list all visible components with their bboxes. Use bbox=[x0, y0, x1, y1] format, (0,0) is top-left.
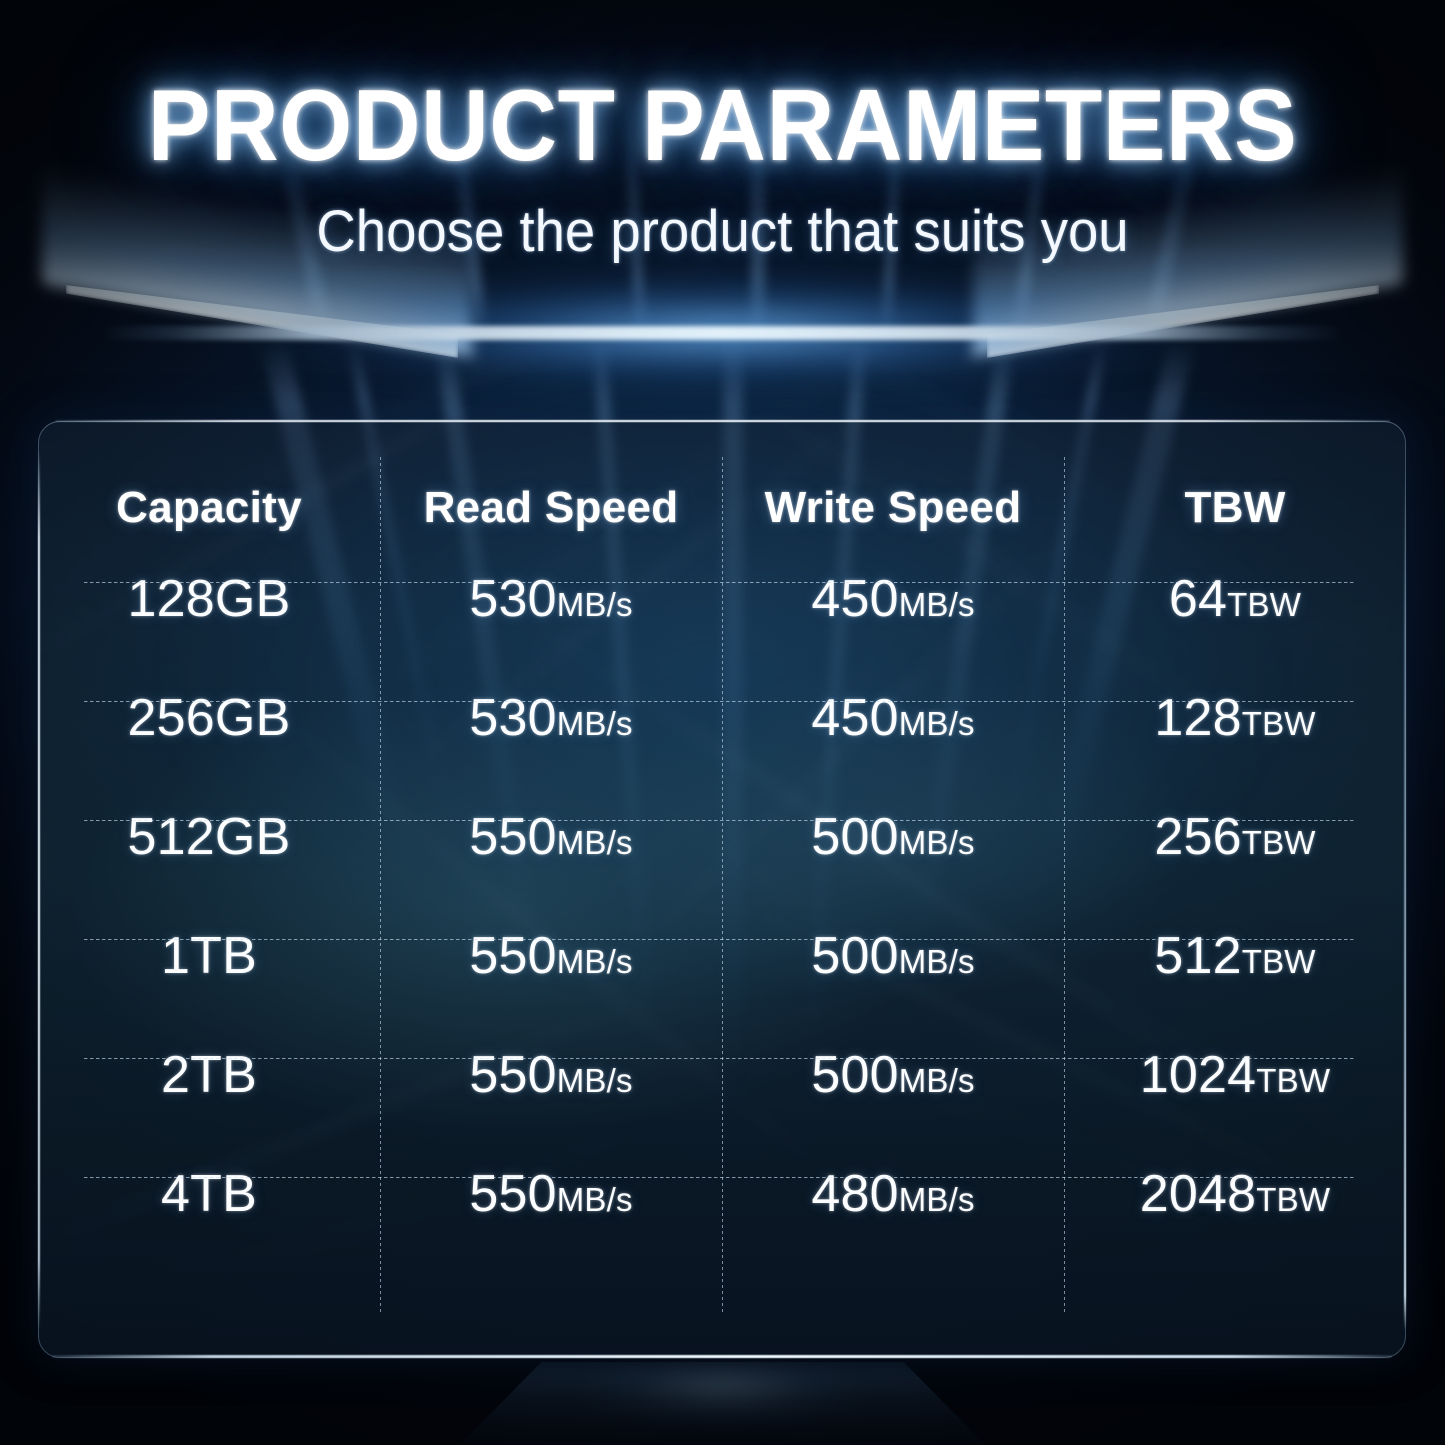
table-cell-tbw: 128TBW bbox=[1064, 658, 1406, 777]
cell-number: 500 bbox=[811, 926, 898, 986]
column-divider bbox=[380, 457, 381, 1315]
cell-number: 450 bbox=[811, 569, 898, 629]
cell-unit: GB bbox=[215, 688, 291, 748]
table-cell-capacity: 4TB bbox=[38, 1134, 380, 1253]
row-divider bbox=[84, 701, 1354, 702]
table-cell-write_speed: 500MB/s bbox=[722, 777, 1064, 896]
cell-unit: MB/s bbox=[899, 1181, 975, 1219]
cell-value: 1TB bbox=[161, 926, 257, 986]
cell-unit: TBW bbox=[1242, 943, 1316, 981]
cell-value: 450MB/s bbox=[811, 688, 974, 748]
table-cell-read_speed: 550MB/s bbox=[380, 896, 722, 1015]
table-cell-write_speed: 450MB/s bbox=[722, 658, 1064, 777]
header-block: PRODUCT PARAMETERS Choose the product th… bbox=[0, 76, 1445, 261]
cell-unit: TB bbox=[190, 926, 257, 986]
table-cell-read_speed: 550MB/s bbox=[380, 777, 722, 896]
cell-unit: MB/s bbox=[899, 943, 975, 981]
column-divider bbox=[722, 457, 723, 1315]
cell-value: 550MB/s bbox=[469, 807, 632, 867]
row-divider bbox=[84, 1058, 1354, 1059]
row-divider bbox=[84, 582, 1354, 583]
cell-number: 530 bbox=[469, 688, 556, 748]
cell-unit: MB/s bbox=[557, 1062, 633, 1100]
table-cell-tbw: 64TBW bbox=[1064, 539, 1406, 658]
cell-unit: MB/s bbox=[557, 943, 633, 981]
cell-value: 450MB/s bbox=[811, 569, 974, 629]
table-cell-tbw: 1024TBW bbox=[1064, 1015, 1406, 1134]
page-title: PRODUCT PARAMETERS bbox=[51, 76, 1395, 177]
cell-value: 530MB/s bbox=[469, 688, 632, 748]
cell-number: 256 bbox=[1154, 807, 1241, 867]
cell-value: 256TBW bbox=[1154, 807, 1315, 867]
column-header-tbw: TBW bbox=[1064, 421, 1406, 539]
cell-unit: TB bbox=[190, 1045, 257, 1105]
cell-value: 500MB/s bbox=[811, 1045, 974, 1105]
cell-number: 1 bbox=[161, 926, 190, 986]
cell-value: 64TBW bbox=[1169, 569, 1301, 629]
table-cell-capacity: 1TB bbox=[38, 896, 380, 1015]
row-divider bbox=[84, 939, 1354, 940]
cell-number: 530 bbox=[469, 569, 556, 629]
cell-unit: GB bbox=[215, 807, 291, 867]
cell-unit: TBW bbox=[1242, 824, 1316, 862]
cell-number: 480 bbox=[811, 1164, 898, 1224]
cell-value: 2048TBW bbox=[1140, 1164, 1330, 1224]
cell-value: 2TB bbox=[161, 1045, 257, 1105]
column-header-label: TBW bbox=[1184, 483, 1285, 533]
table-cell-capacity: 128GB bbox=[38, 539, 380, 658]
cell-unit: MB/s bbox=[557, 586, 633, 624]
table-cell-write_speed: 500MB/s bbox=[722, 896, 1064, 1015]
table-cell-read_speed: 530MB/s bbox=[380, 658, 722, 777]
cell-number: 256 bbox=[128, 688, 215, 748]
cell-value: 1024TBW bbox=[1140, 1045, 1330, 1105]
cell-value: 512GB bbox=[128, 807, 291, 867]
cell-unit: MB/s bbox=[899, 586, 975, 624]
page-subtitle: Choose the product that suits you bbox=[43, 203, 1401, 261]
column-header-label: Read Speed bbox=[424, 483, 679, 533]
cell-number: 1024 bbox=[1140, 1045, 1256, 1105]
cell-unit: MB/s bbox=[557, 824, 633, 862]
cell-value: 128GB bbox=[128, 569, 291, 629]
table-cell-write_speed: 450MB/s bbox=[722, 539, 1064, 658]
column-divider bbox=[1064, 457, 1065, 1315]
column-header-capacity: Capacity bbox=[38, 421, 380, 539]
cell-unit: GB bbox=[215, 569, 291, 629]
cell-unit: TBW bbox=[1242, 705, 1316, 743]
cell-value: 530MB/s bbox=[469, 569, 632, 629]
cell-unit: MB/s bbox=[899, 824, 975, 862]
cell-unit: MB/s bbox=[899, 1062, 975, 1100]
table-cell-tbw: 512TBW bbox=[1064, 896, 1406, 1015]
cell-number: 550 bbox=[469, 807, 556, 867]
cell-number: 4 bbox=[161, 1164, 190, 1224]
cell-number: 500 bbox=[811, 807, 898, 867]
cell-unit: MB/s bbox=[899, 705, 975, 743]
cell-unit: TBW bbox=[1227, 586, 1301, 624]
table-cell-capacity: 256GB bbox=[38, 658, 380, 777]
cell-number: 550 bbox=[469, 926, 556, 986]
cell-number: 2048 bbox=[1140, 1164, 1256, 1224]
column-header-read_speed: Read Speed bbox=[380, 421, 722, 539]
cell-value: 128TBW bbox=[1154, 688, 1315, 748]
cell-number: 128 bbox=[128, 569, 215, 629]
table-cell-capacity: 512GB bbox=[38, 777, 380, 896]
cell-value: 480MB/s bbox=[811, 1164, 974, 1224]
column-header-write_speed: Write Speed bbox=[722, 421, 1064, 539]
table-cell-tbw: 256TBW bbox=[1064, 777, 1406, 896]
cell-number: 512 bbox=[128, 807, 215, 867]
cell-unit: TBW bbox=[1256, 1181, 1330, 1219]
table-cell-read_speed: 550MB/s bbox=[380, 1015, 722, 1134]
column-header-label: Write Speed bbox=[765, 483, 1022, 533]
cell-value: 550MB/s bbox=[469, 1164, 632, 1224]
row-divider bbox=[84, 820, 1354, 821]
cell-value: 500MB/s bbox=[811, 807, 974, 867]
cell-number: 64 bbox=[1169, 569, 1227, 629]
cell-number: 550 bbox=[469, 1045, 556, 1105]
cell-number: 128 bbox=[1154, 688, 1241, 748]
table-cell-write_speed: 480MB/s bbox=[722, 1134, 1064, 1253]
table-cell-read_speed: 550MB/s bbox=[380, 1134, 722, 1253]
table-cell-write_speed: 500MB/s bbox=[722, 1015, 1064, 1134]
cell-unit: MB/s bbox=[557, 1181, 633, 1219]
cell-unit: TB bbox=[190, 1164, 257, 1224]
cell-unit: MB/s bbox=[557, 705, 633, 743]
table-cell-tbw: 2048TBW bbox=[1064, 1134, 1406, 1253]
cell-value: 500MB/s bbox=[811, 926, 974, 986]
row-divider bbox=[84, 1177, 1354, 1178]
cell-value: 512TBW bbox=[1154, 926, 1315, 986]
cell-value: 550MB/s bbox=[469, 926, 632, 986]
column-header-label: Capacity bbox=[116, 483, 302, 533]
cell-number: 500 bbox=[811, 1045, 898, 1105]
cell-number: 2 bbox=[161, 1045, 190, 1105]
table-cell-capacity: 2TB bbox=[38, 1015, 380, 1134]
cell-value: 256GB bbox=[128, 688, 291, 748]
cell-number: 450 bbox=[811, 688, 898, 748]
table-cell-read_speed: 530MB/s bbox=[380, 539, 722, 658]
product-parameters-banner: PRODUCT PARAMETERS Choose the product th… bbox=[0, 0, 1445, 1445]
spec-table: CapacityRead SpeedWrite SpeedTBW128GB530… bbox=[38, 421, 1406, 1358]
cell-value: 4TB bbox=[161, 1164, 257, 1224]
cell-number: 512 bbox=[1154, 926, 1241, 986]
cell-value: 550MB/s bbox=[469, 1045, 632, 1105]
cell-unit: TBW bbox=[1256, 1062, 1330, 1100]
cell-number: 550 bbox=[469, 1164, 556, 1224]
